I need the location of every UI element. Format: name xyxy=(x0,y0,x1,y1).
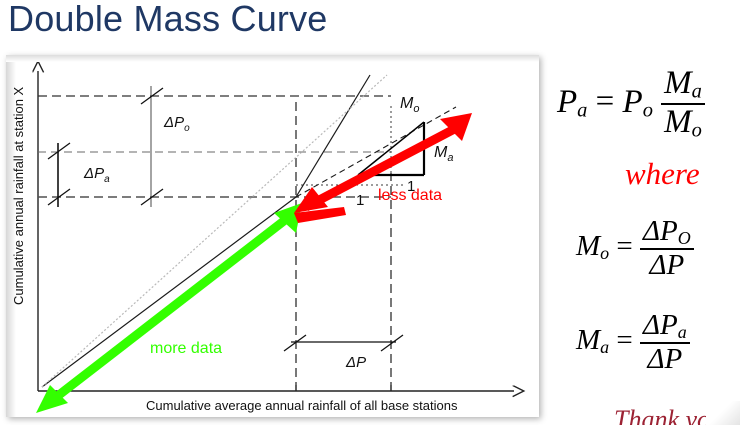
less-data-label: less data xyxy=(378,187,442,204)
eq-mo-numerator: ΔPO xyxy=(640,216,694,248)
equation-where-label: where xyxy=(625,156,700,192)
eq-main-equals: = xyxy=(596,84,615,120)
corner-decoration xyxy=(706,401,740,425)
mass-curve xyxy=(42,75,456,387)
equation-main: Pa = Po Ma Mo xyxy=(557,66,705,142)
slope-mo-label: Mo xyxy=(400,95,419,115)
more-data-arrow-shaft xyxy=(46,210,298,405)
equation-ma: Ma = ΔPa ΔP xyxy=(576,310,690,374)
curve-adjusted-dashed xyxy=(296,107,456,197)
eq-main-numerator: Ma xyxy=(661,66,705,103)
more-data-arrow xyxy=(36,203,302,413)
slope-ma-label: Ma xyxy=(434,144,453,164)
y-axis-label: Cumulative annual rainfall at station X xyxy=(11,86,26,305)
eq-main-lhs: Pa xyxy=(557,84,587,120)
delta-pa-label: ΔPa xyxy=(83,165,110,185)
eq-ma-fraction: ΔPa ΔP xyxy=(640,310,690,374)
less-data-arrow xyxy=(294,113,472,223)
double-mass-curve-figure: Cumulative annual rainfall at station X … xyxy=(6,55,539,417)
eq-mo-fraction: ΔPO ΔP xyxy=(640,216,694,280)
x-axis-ticks xyxy=(296,385,391,391)
eq-mo-equals: = xyxy=(616,230,632,262)
delta-po-label: ΔPo xyxy=(163,114,190,134)
curve-pre-break xyxy=(42,197,296,387)
page-title: Double Mass Curve xyxy=(8,0,328,40)
eq-mo-denominator: ΔP xyxy=(640,248,694,280)
eq-mo-lhs: Mo xyxy=(576,230,609,262)
x-axis-label: Cumulative average annual rainfall of al… xyxy=(146,398,458,413)
double-mass-curve-svg: Cumulative annual rainfall at station X … xyxy=(6,55,539,417)
eq-main-fraction: Ma Mo xyxy=(661,66,705,142)
eq-main-rhs-factor: Po xyxy=(623,84,653,120)
eq-ma-lhs: Ma xyxy=(576,324,609,356)
delta-p-dimension xyxy=(284,335,403,351)
eq-main-denominator: Mo xyxy=(661,103,705,142)
eq-ma-equals: = xyxy=(616,324,632,356)
unit-run-left-label: 1 xyxy=(356,192,364,209)
more-data-label: more data xyxy=(150,340,222,357)
delta-po-dimension xyxy=(141,86,163,207)
equation-mo: Mo = ΔPO ΔP xyxy=(576,216,694,280)
delta-p-label: ΔP xyxy=(345,354,366,371)
eq-ma-numerator: ΔPa xyxy=(640,310,690,342)
eq-ma-denominator: ΔP xyxy=(640,342,690,374)
